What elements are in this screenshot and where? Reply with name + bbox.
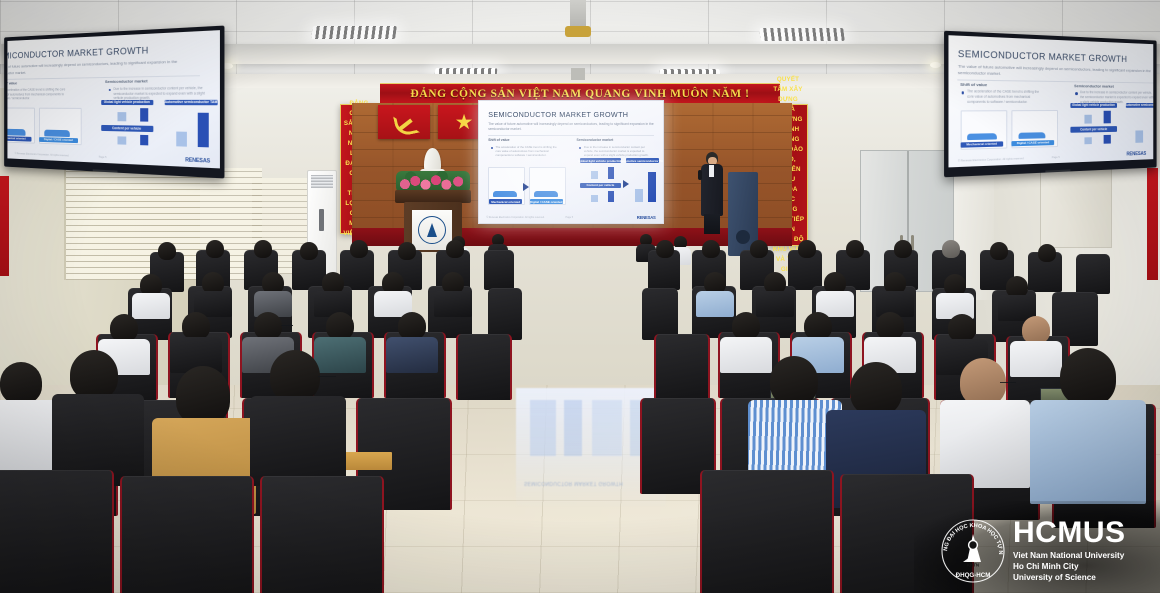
chart-header-content: Content per vehicle <box>580 183 620 188</box>
bar-tam-2023 <box>635 189 642 202</box>
seal-sub-text: ĐHQG-HCM <box>956 572 991 579</box>
air-conditioner-unit <box>307 170 337 276</box>
bar <box>176 132 187 147</box>
slide-label-digital: Digital / CASE oriented <box>530 199 563 204</box>
tv-left-slide-title: SEMICONDUCTOR MARKET GROWTH <box>7 46 148 62</box>
hcmus-seal-icon: TRƯỜNG ĐẠI HỌC KHOA HỌC TỰ NHIÊN KHTN ĐH… <box>940 518 1006 584</box>
bar <box>1135 131 1143 143</box>
tv-right-heading-2: Semiconductor market <box>1074 83 1114 88</box>
horizontal-banner-text: ĐẢNG CỘNG SẢN VIỆT NAM QUANG VINH MUÔN N… <box>410 88 749 100</box>
tv-left-chart-head-2: Automotive semiconductor TAM <box>165 99 218 105</box>
tv-right-renesas-logo: RENESAS <box>1126 151 1146 157</box>
slide-content: SEMICONDUCTOR MARKET GROWTH The value of… <box>479 101 663 223</box>
slide-right-heading: Semiconductor market <box>577 138 614 142</box>
tv-right-chart-head-2: Automotive semiconductor TAM <box>1126 103 1153 108</box>
bar-content-2023 <box>591 195 597 202</box>
chart-header-tam: Automotive semiconductor TAM <box>626 158 659 163</box>
bar-tam-2030 <box>648 172 655 203</box>
projector-mount <box>571 68 585 80</box>
tv-left-heading: Shift of value <box>7 81 17 86</box>
tv-left-bullet-2: Due to the increase in semiconductor con… <box>113 86 205 102</box>
tv-right-heading: Shift of value <box>960 82 987 88</box>
tv-left-divider <box>7 75 200 80</box>
slide-title: SEMICONDUCTOR MARKET GROWTH <box>488 110 628 119</box>
slide-divider <box>488 135 654 136</box>
tv-left-label-mech: Mechanical oriented <box>7 136 31 142</box>
tv-right-screen: SEMICONDUCTOR MARKET GROWTH The value of… <box>948 35 1153 167</box>
door-handle[interactable] <box>900 235 903 251</box>
tv-right-slide-title: SEMICONDUCTOR MARKET GROWTH <box>958 49 1127 65</box>
tv-left-chart-head-1: Global light vehicle production <box>101 99 153 105</box>
vertical-banner-far-left <box>0 176 9 276</box>
pa-speaker-cabinet <box>728 172 758 256</box>
watermark-lines: Viet Nam National University Ho Chi Minh… <box>1013 551 1126 583</box>
bar <box>140 109 149 122</box>
arrow-icon <box>623 180 629 188</box>
watermark-line-3: University of Science <box>1013 573 1126 584</box>
wall-tv-left: SEMICONDUCTOR MARKET GROWTH The value of… <box>4 26 224 179</box>
ceiling-light-panel <box>759 28 845 41</box>
slide-left-heading: Shift of value <box>488 138 509 142</box>
tv-right-chart-head-3: Content per vehicle <box>1070 126 1117 132</box>
tv-right-page: Page 5 <box>1052 156 1060 159</box>
vertical-banner-far-right <box>1147 168 1158 280</box>
hammer-and-sickle-flag-icon <box>378 105 430 139</box>
door-handle[interactable] <box>911 235 914 251</box>
tv-left-page: Page 5 <box>99 156 107 159</box>
tv-right-footer: © Renesas Electronics Corporation. All r… <box>958 158 1025 164</box>
window-blinds <box>64 168 262 280</box>
hall-double-door[interactable] <box>860 150 954 292</box>
bar <box>140 135 149 146</box>
watermark-line-1: Viet Nam National University <box>1013 551 1126 562</box>
slide-subtitle: The value of future automotive will incr… <box>488 122 654 132</box>
slide-left-bullet: The acceleration of the CASE trend is sh… <box>496 145 562 158</box>
bar <box>1084 138 1092 144</box>
bar <box>1084 115 1092 124</box>
watermark-text-block: HCMUS Viet Nam National University Ho Ch… <box>1013 518 1126 583</box>
hcmus-watermark: TRƯỜNG ĐẠI HỌC KHOA HỌC TỰ NHIÊN KHTN ĐH… <box>940 511 1156 591</box>
seminar-hall-photo: ĐẢNG CỘNG SẢN VIỆT NAM QUANG VINH MUÔN N… <box>0 0 1160 593</box>
car-icon <box>967 133 996 140</box>
bar <box>1103 135 1111 144</box>
slide-floor-reflection: SEMICONDUCTOR MARKET GROWTH <box>516 388 666 508</box>
presenter-shirt <box>709 165 714 177</box>
bar-content-2030 <box>608 191 614 202</box>
renesas-logo: RENESAS <box>637 215 656 220</box>
ceiling-projector <box>570 0 586 30</box>
tv-left-slide-subtitle: The value of future automotive will incr… <box>7 58 200 76</box>
wall-tv-right: SEMICONDUCTOR MARKET GROWTH The value of… <box>944 31 1157 178</box>
tv-right-slide-subtitle: The value of future automotive will incr… <box>958 63 1153 80</box>
car-icon <box>45 130 70 137</box>
tv-left-renesas-logo: RENESAS <box>185 157 210 164</box>
chart-header-production: Global light vehicle production <box>580 158 620 163</box>
bar-production-2023 <box>591 171 597 180</box>
projection-screen: SEMICONDUCTOR MARKET GROWTH The value of… <box>478 100 664 224</box>
bar <box>118 137 127 145</box>
bar <box>118 112 127 121</box>
car-icon <box>534 191 558 197</box>
microphone-icon <box>698 170 702 180</box>
downlight <box>930 62 941 68</box>
slide-right-bullet: Due to the increase in semiconductor con… <box>584 145 654 158</box>
slide-footer: © Renesas Electronics Corporation. All r… <box>486 216 544 219</box>
tv-left-footer: © Renesas Electronics Corporation. All r… <box>15 152 69 157</box>
tv-right-bullet: The acceleration of the CASE trend is sh… <box>967 90 1046 105</box>
reflected-slide-title: SEMICONDUCTOR MARKET GROWTH <box>524 480 623 486</box>
svg-text:KHTN: KHTN <box>967 563 979 568</box>
tv-left-chart-head-3: Content per vehicle <box>101 125 153 132</box>
car-icon <box>7 129 25 135</box>
tv-left-heading-2: Semiconductor market <box>105 78 148 84</box>
slide-label-mechanical: Mechanical oriented <box>489 199 522 204</box>
bar-production-2030 <box>608 167 614 179</box>
presenter <box>700 152 724 234</box>
reflection-blocks <box>530 400 654 456</box>
ceiling-light-panel <box>311 26 397 39</box>
hammer-sickle-emblem <box>393 112 415 132</box>
podium-front-panel <box>412 210 452 250</box>
seal-svg: TRƯỜNG ĐẠI HỌC KHOA HỌC TỰ NHIÊN KHTN ĐH… <box>940 518 1006 584</box>
tv-right-slide: SEMICONDUCTOR MARKET GROWTH The value of… <box>948 35 1153 167</box>
tv-left-screen: SEMICONDUCTOR MARKET GROWTH The value of… <box>7 30 220 168</box>
car-icon <box>1018 132 1045 139</box>
car-icon <box>493 191 517 197</box>
tv-left-slide: SEMICONDUCTOR MARKET GROWTH The value of… <box>7 30 220 168</box>
tv-left-bullet: The acceleration of the CASE trend is sh… <box>7 87 72 101</box>
slide-page-number: Page 5 <box>565 216 573 219</box>
tv-right-chart-head-1: Global light vehicle production <box>1070 103 1117 108</box>
bar <box>198 113 209 147</box>
presenter-legs <box>704 214 720 234</box>
hcmus-logo-icon <box>418 216 446 244</box>
door-split <box>907 151 909 291</box>
watermark-acronym: HCMUS <box>1013 518 1126 548</box>
bar <box>1103 111 1111 123</box>
watermark-line-2: Ho Chi Minh City <box>1013 562 1126 573</box>
arrow-icon <box>523 183 529 191</box>
